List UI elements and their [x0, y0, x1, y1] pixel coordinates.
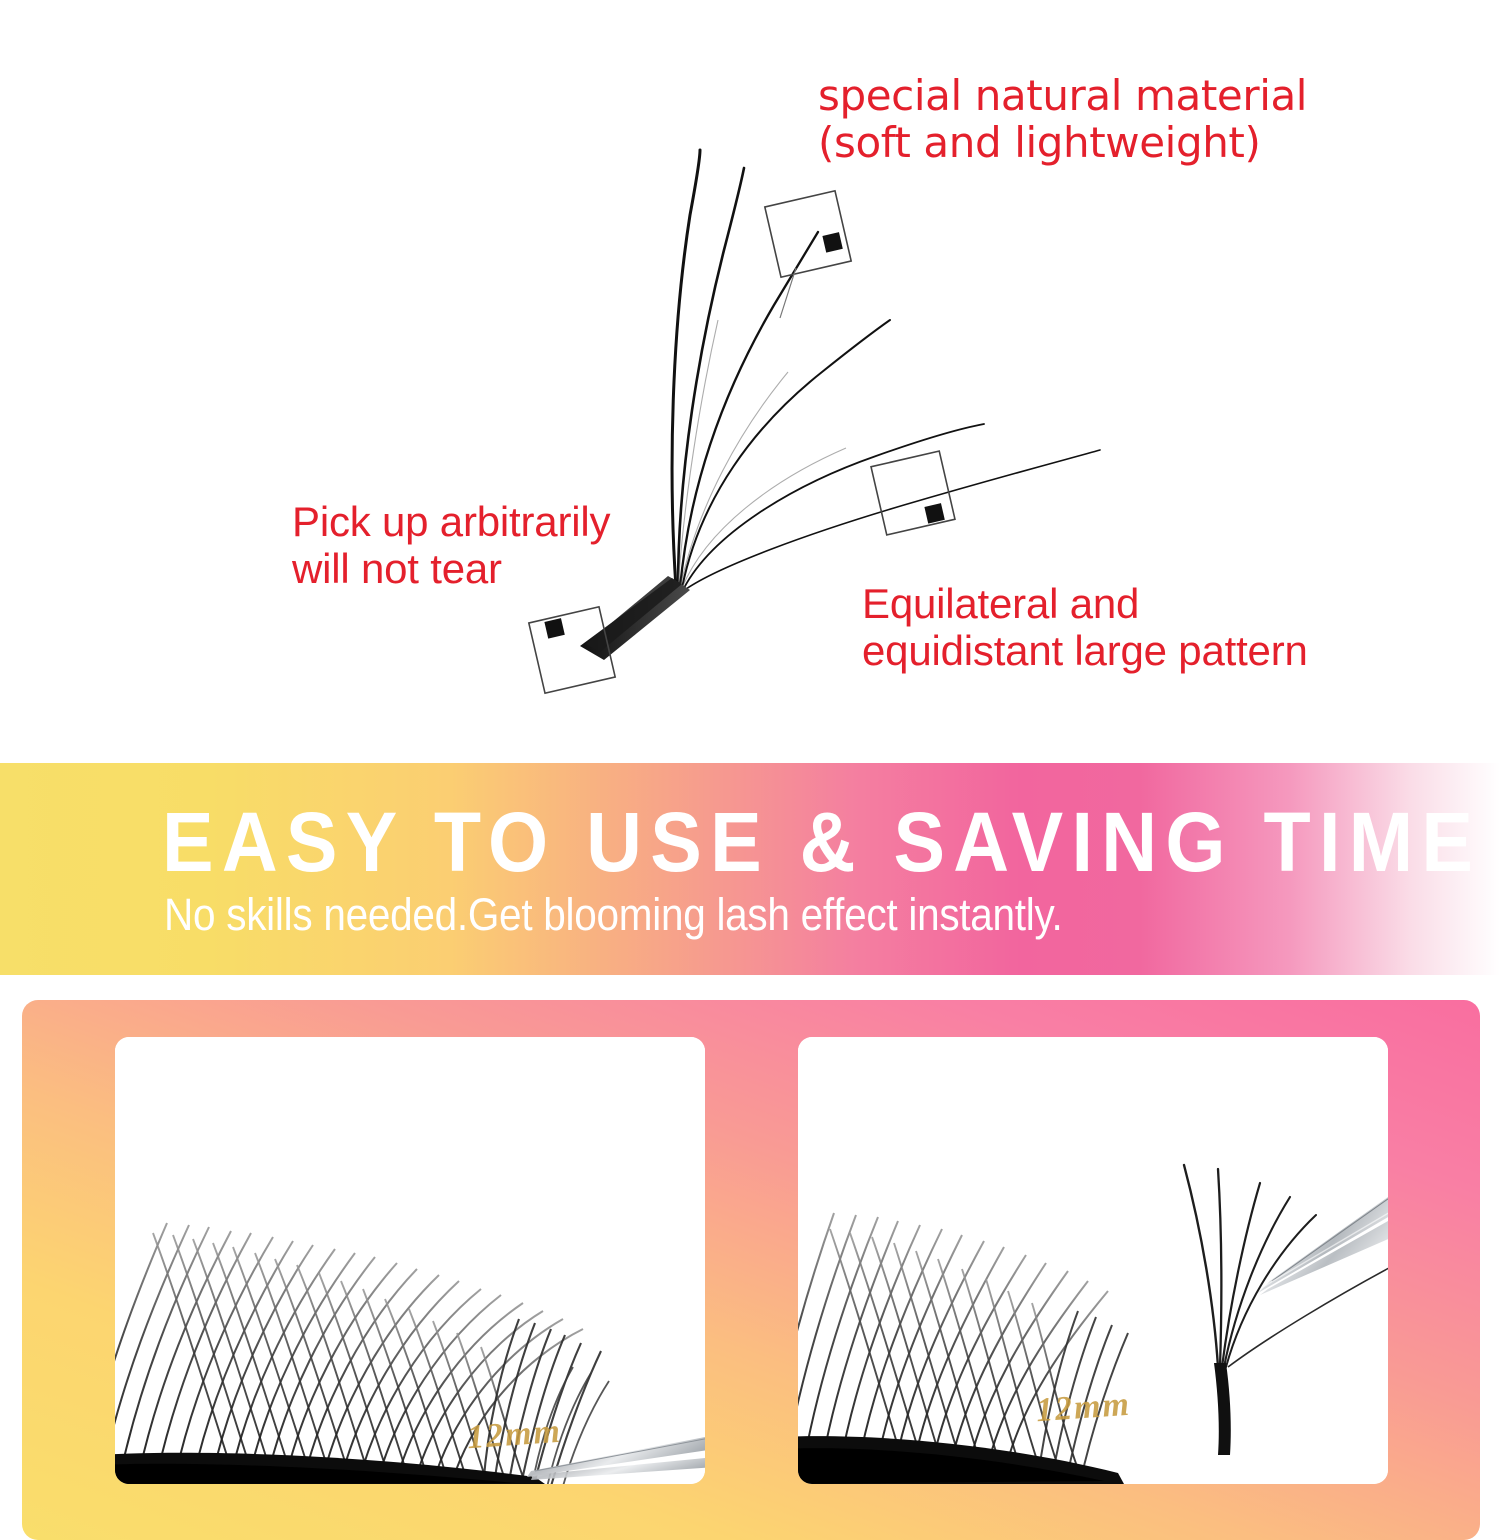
callout-material-text: special natural material (soft and light…	[818, 72, 1307, 166]
callout-equilateral-text: Equilateral and equidistant large patter…	[862, 580, 1308, 674]
lash-wisps	[678, 320, 846, 588]
photo-card-lash-pickup[interactable]: 12mm	[798, 1037, 1388, 1484]
banner-subtitle: No skills needed.Get blooming lash effec…	[164, 890, 1316, 940]
lash-strand-4	[682, 320, 890, 588]
lash-strands	[672, 150, 1100, 589]
callout-marker-middle	[871, 451, 955, 535]
lash-tray-photo	[115, 1037, 705, 1484]
lash-fan-pickup-photo	[798, 1037, 1388, 1484]
banner-title: EASY TO USE & SAVING TIME	[162, 798, 1321, 886]
callout-pickup-text: Pick up arbitrarily will not tear	[292, 498, 610, 592]
lash-strand-1	[672, 150, 700, 588]
photo-card-lash-tray[interactable]: 12mm	[115, 1037, 705, 1484]
photo-panel: 12mm	[22, 1000, 1480, 1540]
lash-illustration-section: special natural material (soft and light…	[0, 0, 1500, 758]
